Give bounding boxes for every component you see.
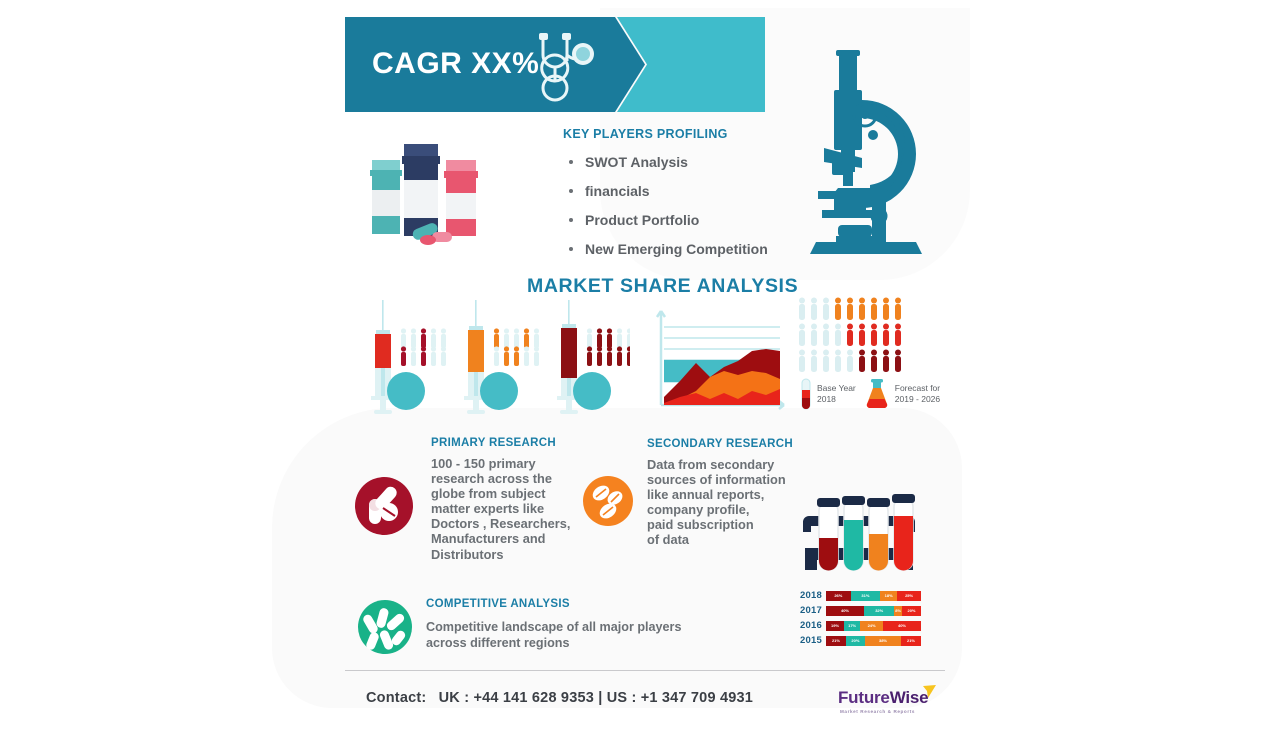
bar-segment: 18% — [880, 591, 897, 601]
stethoscope-icon — [530, 31, 605, 103]
bar-segment: 17% — [844, 621, 860, 631]
logo-tagline: Market Research & Reports — [840, 709, 928, 714]
table-row: 2016 19% 17% 24% 40% — [800, 619, 921, 632]
list-item: New Emerging Competition — [563, 241, 813, 257]
legend-label: Base Year 2018 — [817, 383, 856, 406]
year-label: 2015 — [800, 635, 826, 646]
bar-track: 40% 32% 8% 20% — [826, 606, 921, 616]
table-row: 2017 40% 32% 8% 20% — [800, 604, 921, 617]
test-tube-rack-icon — [797, 492, 921, 579]
capsules-circle-icon — [358, 600, 412, 659]
cagr-banner: CAGR XX% — [345, 17, 765, 112]
bar-segment: 21% — [901, 636, 921, 646]
primary-research-text: 100 - 150 primary research across the gl… — [431, 456, 570, 562]
bar-segment: 20% — [846, 636, 865, 646]
primary-research-title: PRIMARY RESEARCH — [431, 437, 570, 449]
list-item: SWOT Analysis — [563, 154, 813, 170]
legend-item-forecast: Forecast for 2019 - 2026 — [864, 378, 940, 410]
year-label: 2018 — [800, 590, 826, 601]
secondary-research-text: Data from secondary sources of informati… — [647, 457, 793, 548]
table-row: 2015 21% 20% 38% 21% — [800, 634, 921, 647]
syringe-chart — [360, 300, 630, 423]
logo-text-future: Future — [838, 688, 890, 707]
logo-wordmark: FutureWise — [838, 688, 928, 708]
bar-segment: 19% — [826, 621, 844, 631]
chart-legend: Base Year 2018 Forecast for 2019 - 2026 — [800, 378, 940, 410]
competitive-analysis-block: COMPETITIVE ANALYSIS Competitive landsca… — [358, 598, 758, 659]
bar-segment: 38% — [865, 636, 901, 646]
footer-divider — [345, 670, 945, 671]
bar-track: 19% 17% 24% 40% — [826, 621, 921, 631]
test-tube-icon — [800, 378, 812, 410]
list-item: financials — [563, 183, 813, 199]
bar-track: 21% 20% 38% 21% — [826, 636, 921, 646]
bar-segment: 32% — [864, 606, 894, 616]
bar-segment: 40% — [883, 621, 921, 631]
bar-track: 26% 31% 18% 25% — [826, 591, 921, 601]
cagr-headline: CAGR XX% — [372, 47, 539, 81]
pills-circle-icon — [355, 477, 413, 540]
bar-segment: 21% — [826, 636, 846, 646]
flask-icon — [864, 378, 890, 410]
futurewise-logo[interactable]: FutureWise Market Research & Reports — [838, 688, 928, 714]
contact-phones: UK : +44 141 628 9353 | US : +1 347 709 … — [439, 690, 753, 706]
bar-segment: 26% — [826, 591, 851, 601]
competitive-analysis-title: COMPETITIVE ANALYSIS — [426, 598, 681, 610]
list-item: Product Portfolio — [563, 212, 813, 228]
contact-label: Contact: — [366, 690, 426, 706]
key-players-list: SWOT Analysis financials Product Portfol… — [563, 154, 813, 257]
bar-segment: 40% — [826, 606, 864, 616]
contact-info: Contact: UK : +44 141 628 9353 | US : +1… — [366, 690, 753, 706]
year-label: 2017 — [800, 605, 826, 616]
tablets-circle-icon — [583, 476, 633, 548]
competitive-analysis-text: Competitive landscape of all major playe… — [426, 619, 681, 651]
infographic-page: CAGR XX% — [0, 0, 1280, 731]
bar-segment: 20% — [902, 606, 921, 616]
legend-label: Forecast for 2019 - 2026 — [895, 383, 940, 406]
key-players-title: KEY PLAYERS PROFILING — [563, 127, 813, 141]
secondary-research-title: SECONDARY RESEARCH — [647, 438, 793, 450]
bar-segment: 8% — [894, 606, 902, 616]
bar-segment: 31% — [851, 591, 880, 601]
logo-flag-icon — [923, 685, 937, 706]
primary-research-block: PRIMARY RESEARCH 100 - 150 primary resea… — [355, 437, 595, 562]
key-players-section: KEY PLAYERS PROFILING SWOT Analysis fina… — [563, 127, 813, 270]
area-chart — [652, 305, 797, 420]
microscope-icon — [808, 20, 933, 263]
table-row: 2018 26% 31% 18% 25% — [800, 589, 921, 602]
secondary-research-block: SECONDARY RESEARCH Data from secondary s… — [583, 438, 808, 548]
bar-segment: 25% — [897, 591, 921, 601]
market-share-title: MARKET SHARE ANALYSIS — [527, 275, 798, 298]
year-bars-chart: 2018 26% 31% 18% 25% 2017 40% 32% 8% 20%… — [800, 589, 921, 649]
year-label: 2016 — [800, 620, 826, 631]
people-pictogram-chart — [797, 297, 912, 380]
pill-bottles-icon — [368, 140, 508, 260]
legend-item-base-year: Base Year 2018 — [800, 378, 856, 410]
bar-segment: 24% — [860, 621, 883, 631]
